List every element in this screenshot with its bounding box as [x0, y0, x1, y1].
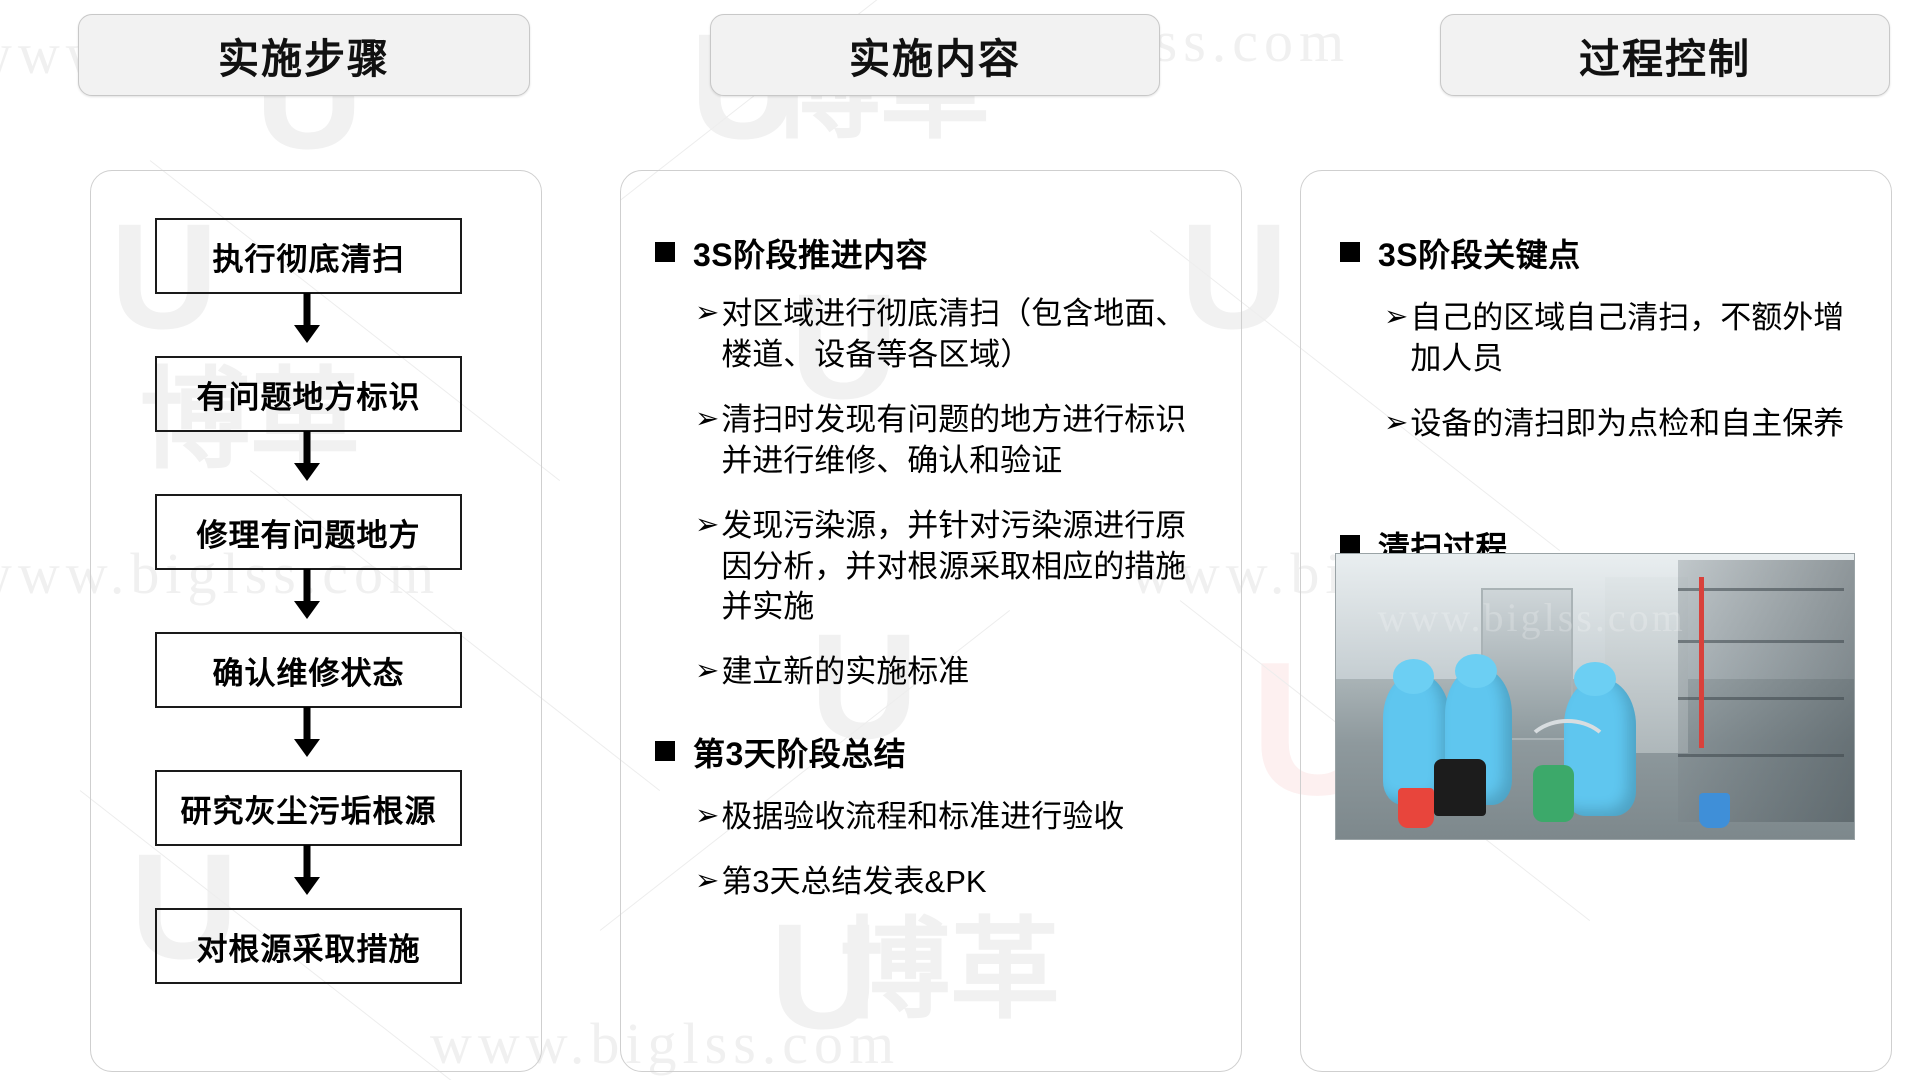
flow-arrow-4: [155, 707, 458, 757]
photo-worker-hood: [1455, 654, 1496, 688]
flow-step-4: 确认维修状态: [155, 632, 462, 708]
list-item-label: 清扫时发现有问题的地方进行标识并进行维修、确认和验证: [721, 400, 1215, 482]
content-column: 3S阶段推进内容 ➢ 对区域进行彻底清扫（包含地面、楼道、设备等各区域） ➢ 清…: [655, 230, 1215, 919]
list-item: ➢ 自己的区域自己清扫，不额外增加人员: [1384, 298, 1870, 380]
content-section-2-heading-label: 第3天阶段总结: [693, 729, 906, 775]
chevron-right-bullet-icon: ➢: [1384, 298, 1408, 336]
photo-worker-hood: [1574, 662, 1615, 696]
flow-step-1-label: 执行彻底清扫: [213, 234, 405, 279]
control-section-1-heading-label: 3S阶段关键点: [1378, 230, 1581, 276]
down-arrow-icon: [303, 293, 310, 327]
content-section-2-bullets: ➢ 极据验收流程和标准进行验收 ➢ 第3天总结发表&PK: [655, 783, 1215, 903]
photo-red-bucket: [1398, 788, 1434, 828]
chevron-right-bullet-icon: ➢: [695, 506, 719, 544]
flow-arrow-5: [155, 845, 458, 895]
flow-step-5-label: 研究灰尘污垢根源: [181, 786, 437, 831]
control-section-1-bullets: ➢ 自己的区域自己清扫，不额外增加人员 ➢ 设备的清扫即为点检和自主保养: [1340, 284, 1870, 445]
list-item-label: 极据验收流程和标准进行验收: [721, 797, 1215, 838]
list-item: ➢ 建立新的实施标准: [695, 652, 1215, 693]
list-item: ➢ 第3天总结发表&PK: [695, 862, 1215, 903]
flow-step-3-label: 修理有问题地方: [197, 510, 421, 555]
down-arrow-icon: [303, 569, 310, 603]
column-header-content: 实施内容: [710, 14, 1160, 96]
flow-step-2-label: 有问题地方标识: [197, 372, 421, 417]
list-item: ➢ 设备的清扫即为点检和自主保养: [1384, 404, 1870, 445]
content-section-2-heading: 第3天阶段总结: [655, 729, 1215, 775]
chevron-right-bullet-icon: ➢: [695, 652, 719, 690]
flow-step-5: 研究灰尘污垢根源: [155, 770, 462, 846]
down-arrow-icon: [294, 739, 320, 757]
control-section-1-heading: 3S阶段关键点: [1340, 230, 1870, 276]
down-arrow-icon: [303, 431, 310, 465]
flow-step-6-label: 对根源采取措施: [197, 924, 421, 969]
photo-watermark-text: www.biglss.com: [1377, 594, 1685, 641]
flow-arrow-2: [155, 431, 458, 481]
list-item-label: 设备的清扫即为点检和自主保养: [1410, 404, 1870, 445]
list-item: ➢ 对区域进行彻底清扫（包含地面、楼道、设备等各区域）: [695, 294, 1215, 376]
flow-step-6: 对根源采取措施: [155, 908, 462, 984]
content-section-1-heading: 3S阶段推进内容: [655, 230, 1215, 276]
content-section-1-bullets: ➢ 对区域进行彻底清扫（包含地面、楼道、设备等各区域） ➢ 清扫时发现有问题的地…: [655, 284, 1215, 693]
list-item: ➢ 极据验收流程和标准进行验收: [695, 797, 1215, 838]
flow-arrow-1: [155, 293, 458, 343]
down-arrow-icon: [303, 707, 310, 741]
flow-step-3: 修理有问题地方: [155, 494, 462, 570]
photo-vacuum-hose: [1522, 719, 1613, 790]
list-item-label: 自己的区域自己清扫，不额外增加人员: [1410, 298, 1870, 380]
down-arrow-icon: [294, 877, 320, 895]
chevron-right-bullet-icon: ➢: [1384, 404, 1408, 442]
down-arrow-icon: [303, 845, 310, 879]
flow-arrow-3: [155, 569, 458, 619]
flow-step-1: 执行彻底清扫: [155, 218, 462, 294]
filled-square-bullet-icon: [655, 741, 675, 761]
down-arrow-icon: [294, 601, 320, 619]
filled-square-bullet-icon: [1340, 535, 1360, 555]
column-header-steps-label: 实施步骤: [218, 25, 390, 85]
photo-red-pipe: [1699, 577, 1704, 748]
column-header-steps: 实施步骤: [78, 14, 530, 96]
column-header-content-label: 实施内容: [849, 25, 1021, 85]
list-item-label: 第3天总结发表&PK: [721, 862, 1215, 903]
chevron-right-bullet-icon: ➢: [695, 797, 719, 835]
photo-blue-bucket: [1699, 793, 1730, 827]
photo-rack-shelf: [1678, 754, 1844, 757]
photo-waste-bag: [1434, 759, 1486, 816]
list-item: ➢ 发现污染源，并针对污染源进行原因分析，并对根源采取相应的措施并实施: [695, 506, 1215, 629]
list-item-label: 发现污染源，并针对污染源进行原因分析，并对根源采取相应的措施并实施: [721, 506, 1215, 629]
control-column: 3S阶段关键点 ➢ 自己的区域自己清扫，不额外增加人员 ➢ 设备的清扫即为点检和…: [1340, 230, 1870, 577]
filled-square-bullet-icon: [1340, 242, 1360, 262]
chevron-right-bullet-icon: ➢: [695, 862, 719, 900]
content-section-1-heading-label: 3S阶段推进内容: [693, 230, 928, 276]
photo-equipment-rack: [1678, 560, 1854, 822]
down-arrow-icon: [294, 463, 320, 481]
flow-step-2: 有问题地方标识: [155, 356, 462, 432]
photo-worker-hood: [1393, 659, 1434, 693]
flow-step-4-label: 确认维修状态: [213, 648, 405, 693]
filled-square-bullet-icon: [655, 242, 675, 262]
cleanroom-cleaning-photo: www.biglss.com: [1335, 553, 1855, 840]
chevron-right-bullet-icon: ➢: [695, 400, 719, 438]
column-header-control-label: 过程控制: [1579, 25, 1751, 85]
list-item: ➢ 清扫时发现有问题的地方进行标识并进行维修、确认和验证: [695, 400, 1215, 482]
column-header-control: 过程控制: [1440, 14, 1890, 96]
list-item-label: 建立新的实施标准: [721, 652, 1215, 693]
down-arrow-icon: [294, 325, 320, 343]
list-item-label: 对区域进行彻底清扫（包含地面、楼道、设备等各区域）: [721, 294, 1215, 376]
chevron-right-bullet-icon: ➢: [695, 294, 719, 332]
